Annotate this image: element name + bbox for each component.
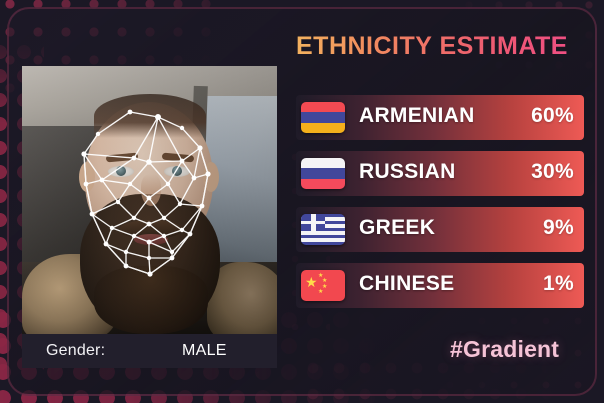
ethnicity-percent: 9% — [543, 216, 574, 240]
page-title: ETHNICITY ESTIMATE — [296, 34, 584, 59]
flag-greece-icon — [301, 214, 345, 245]
ethnicity-percent: 30% — [531, 160, 574, 184]
ethnicity-row-armenian: ARMENIAN 60% — [296, 95, 584, 142]
ethnicity-list: ARMENIAN 60% RUSSIAN 30% GREEK 9% — [296, 95, 584, 319]
ethnicity-row-russian: RUSSIAN 30% — [296, 151, 584, 198]
result-card-canvas: Gender: MALE ETHNICITY ESTIMATE ARMENIAN… — [0, 0, 604, 403]
face-landmark-mesh — [22, 66, 277, 334]
flag-armenia-icon — [301, 102, 345, 133]
gender-label: Gender: — [46, 342, 105, 360]
ethnicity-percent: 60% — [531, 104, 574, 128]
ethnicity-row-chinese: ★ ★ ★ ★ ★ CHINESE 1% — [296, 263, 584, 310]
brand-hashtag: #Gradient — [450, 336, 559, 363]
ethnicity-label: ARMENIAN — [359, 104, 475, 128]
gender-value: MALE — [182, 342, 227, 360]
ethnicity-label: GREEK — [359, 216, 435, 240]
ethnicity-row-greek: GREEK 9% — [296, 207, 584, 254]
gender-result-bar: Gender: MALE — [22, 334, 277, 368]
ethnicity-label: CHINESE — [359, 272, 454, 296]
ethnicity-label: RUSSIAN — [359, 160, 456, 184]
flag-russia-icon — [301, 158, 345, 189]
flag-china-icon: ★ ★ ★ ★ ★ — [301, 270, 345, 301]
face-photo — [22, 66, 277, 334]
ethnicity-percent: 1% — [543, 272, 574, 296]
ethnicity-section: ETHNICITY ESTIMATE — [296, 34, 584, 59]
